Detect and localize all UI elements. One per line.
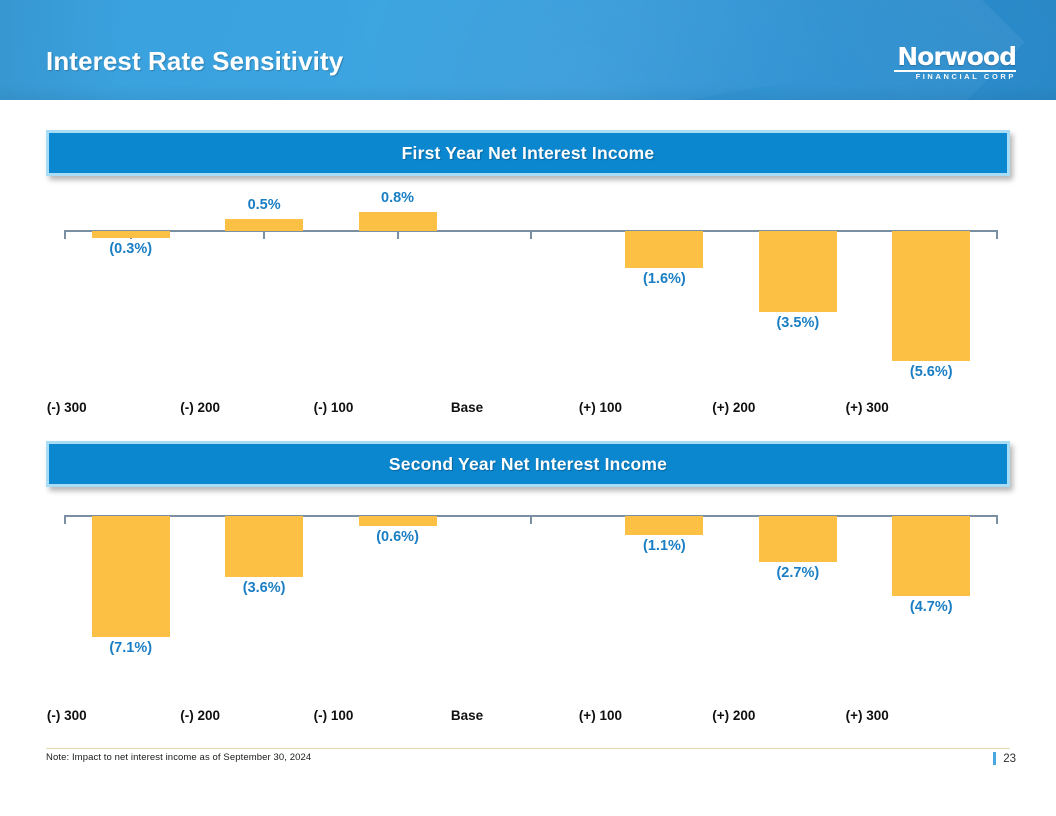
chart-second-column: (0.6%) [331, 502, 464, 702]
chart-first-column: (5.6%) [865, 190, 998, 390]
page-number-accent-bar [993, 752, 996, 765]
header-bottom-shade [0, 84, 1056, 100]
chart-second-column: (3.6%) [197, 502, 330, 702]
header-divider [0, 100, 1056, 103]
bar-100 [625, 516, 703, 535]
bar-value-label: (2.7%) [776, 565, 819, 581]
chart-second-plot-area: (7.1%)(3.6%)(0.6%)(1.1%)(2.7%)(4.7%) [64, 502, 998, 702]
bar-minus300 [92, 516, 170, 637]
axis-tick [397, 230, 399, 239]
chart-first-column: 0.5% [197, 190, 330, 390]
slide-header: Interest Rate Sensitivity Norwood FINANC… [0, 0, 1056, 100]
bar-minus200 [225, 516, 303, 577]
chart-second-column: (7.1%) [64, 502, 197, 702]
chart-first-category-axis: (-) 300(-) 200(-) 100Base(+) 100(+) 200(… [0, 400, 934, 415]
chart-second-column: (1.1%) [598, 502, 731, 702]
page-title: Interest Rate Sensitivity [46, 46, 343, 77]
category-label: (+) 300 [801, 708, 934, 723]
section-banner-second-year: Second Year Net Interest Income [46, 441, 1010, 487]
category-label: (-) 100 [267, 400, 400, 415]
bar-300 [892, 516, 970, 596]
chart-first-column: (3.5%) [731, 190, 864, 390]
section-banner-first-year: First Year Net Interest Income [46, 130, 1010, 176]
bar-value-label: (0.6%) [376, 529, 419, 545]
category-label: (-) 300 [0, 708, 133, 723]
chart-second-category-axis: (-) 300(-) 200(-) 100Base(+) 100(+) 200(… [0, 708, 934, 723]
category-label: (+) 100 [534, 400, 667, 415]
bar-value-label: (3.5%) [776, 315, 819, 331]
bar-200 [759, 516, 837, 562]
page-number: 23 [1003, 753, 1016, 765]
bar-100 [625, 231, 703, 268]
section-banner-first-year-label: First Year Net Interest Income [402, 143, 655, 164]
bar-value-label: (3.6%) [243, 580, 286, 596]
category-label: (-) 200 [133, 400, 266, 415]
axis-tick [530, 515, 532, 524]
bar-value-label: 0.5% [248, 197, 281, 213]
bar-minus100 [359, 516, 437, 526]
bar-value-label: (4.7%) [910, 599, 953, 615]
chart-first-plot-area: (0.3%)0.5%0.8%(1.6%)(3.5%)(5.6%) [64, 190, 998, 390]
bar-minus300 [92, 231, 170, 238]
category-label: Base [400, 400, 533, 415]
chart-first-year-net-interest-income: (0.3%)0.5%0.8%(1.6%)(3.5%)(5.6%) [64, 190, 998, 430]
bar-value-label: (0.3%) [109, 241, 152, 257]
bar-value-label: (7.1%) [109, 640, 152, 656]
section-banner-second-year-label: Second Year Net Interest Income [389, 454, 667, 475]
axis-tick [530, 230, 532, 239]
bar-300 [892, 231, 970, 361]
page-number-group: 23 [993, 752, 1016, 765]
chart-second-column: (4.7%) [865, 502, 998, 702]
bar-minus200 [225, 219, 303, 231]
header-glow-decoration [275, 0, 844, 100]
chart-second-column: (2.7%) [731, 502, 864, 702]
bar-minus100 [359, 212, 437, 231]
chart-first-column: 0.8% [331, 190, 464, 390]
category-label: (+) 200 [667, 708, 800, 723]
category-label: (-) 300 [0, 400, 133, 415]
chart-second-column [464, 502, 597, 702]
chart-first-column: (1.6%) [598, 190, 731, 390]
category-label: (-) 100 [267, 708, 400, 723]
category-label: (+) 200 [667, 400, 800, 415]
category-label: (+) 300 [801, 400, 934, 415]
footer-note: Note: Impact to net interest income as o… [46, 752, 311, 763]
bar-value-label: (5.6%) [910, 364, 953, 380]
category-label: (+) 100 [534, 708, 667, 723]
chart-second-year-net-interest-income: (7.1%)(3.6%)(0.6%)(1.1%)(2.7%)(4.7%) [64, 502, 998, 742]
category-label: (-) 200 [133, 708, 266, 723]
footer-divider [46, 748, 1010, 749]
axis-tick [263, 230, 265, 239]
brand-logo-wordmark: Norwood [872, 44, 1016, 69]
bar-value-label: (1.6%) [643, 271, 686, 287]
chart-first-column [464, 190, 597, 390]
bar-value-label: 0.8% [381, 190, 414, 206]
chart-first-column: (0.3%) [64, 190, 197, 390]
bar-value-label: (1.1%) [643, 538, 686, 554]
bar-200 [759, 231, 837, 312]
brand-logo: Norwood FINANCIAL CORP [872, 44, 1016, 81]
brand-logo-subtitle: FINANCIAL CORP [872, 73, 1016, 81]
category-label: Base [400, 708, 533, 723]
